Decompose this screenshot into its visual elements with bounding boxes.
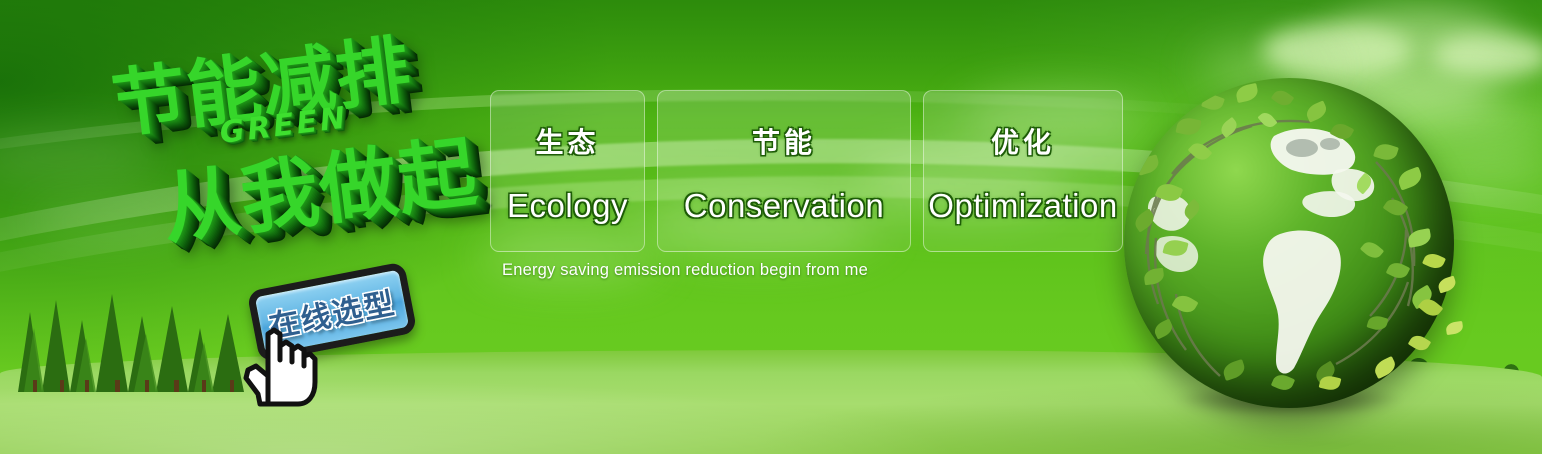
- feature-card-cn-label: 节能: [752, 121, 816, 161]
- conifer-tree-group: [0, 294, 260, 392]
- feature-card-list: 生态 Ecology 节能 Conservation 优化 Optimizati…: [490, 90, 1123, 252]
- earth-globe-illustration: [1124, 78, 1454, 408]
- feature-card-en-label: Ecology: [507, 187, 628, 225]
- globe-sphere: [1124, 78, 1454, 408]
- feature-card-ecology[interactable]: 生态 Ecology: [490, 90, 645, 252]
- feature-card-en-label: Optimization: [928, 187, 1117, 225]
- feature-card-en-label: Conservation: [684, 187, 884, 225]
- headline-3d-art: 节能减排 GREEN 从我做起: [100, 38, 490, 268]
- feature-card-optimization[interactable]: 优化 Optimization: [923, 90, 1123, 252]
- pointing-hand-cursor-icon: [238, 316, 324, 408]
- feature-card-conservation[interactable]: 节能 Conservation: [657, 90, 911, 252]
- green-energy-banner: 节能减排 GREEN 从我做起 在线选型: [0, 0, 1542, 454]
- feature-card-cn-label: 生态: [535, 121, 599, 161]
- feature-card-cn-label: 优化: [991, 121, 1055, 161]
- banner-tagline: Energy saving emission reduction begin f…: [502, 261, 868, 280]
